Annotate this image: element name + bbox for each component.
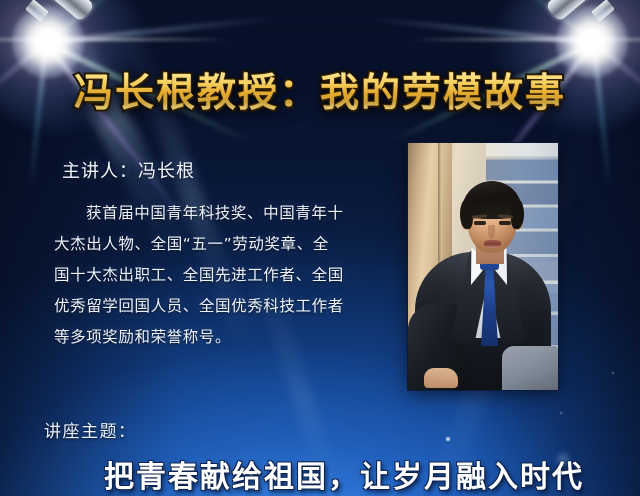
photo-vignette [408,143,558,390]
light-speck-icon [560,412,562,414]
bio-line: 国十大杰出职工、全国先进工作者、全国 [54,260,404,291]
topic-headline: 把青春献给祖国，让岁月融入时代 [0,452,640,496]
light-speck-icon [612,372,614,374]
light-speck-icon [250,474,252,476]
topic-label: 讲座主题： [44,417,137,442]
light-speck-icon [446,437,450,441]
speaker-bio: 获首届中国青年科技奖、中国青年十 大杰出人物、全国“五一”劳动奖章、全 国十大杰… [54,198,404,353]
page-title: 冯长根教授：我的劳模故事 [0,62,640,118]
light-speck-icon [146,486,148,488]
bio-line: 优秀留学回国人员、全国优秀科技工作者 [54,291,404,322]
bio-line: 大杰出人物、全国“五一”劳动奖章、全 [54,229,404,260]
lecture-poster: 冯长根教授：我的劳模故事 冯长根教授：我的劳模故事 主讲人：冯长根 获首届中国青… [0,0,640,496]
speaker-portrait-photo [408,143,558,390]
bio-line: 获首届中国青年科技奖、中国青年十 [54,198,404,229]
light-speck-icon [556,452,570,466]
speaker-name-line: 主讲人：冯长根 [62,157,195,183]
bio-line: 等多项奖励和荣誉称号。 [54,322,404,353]
